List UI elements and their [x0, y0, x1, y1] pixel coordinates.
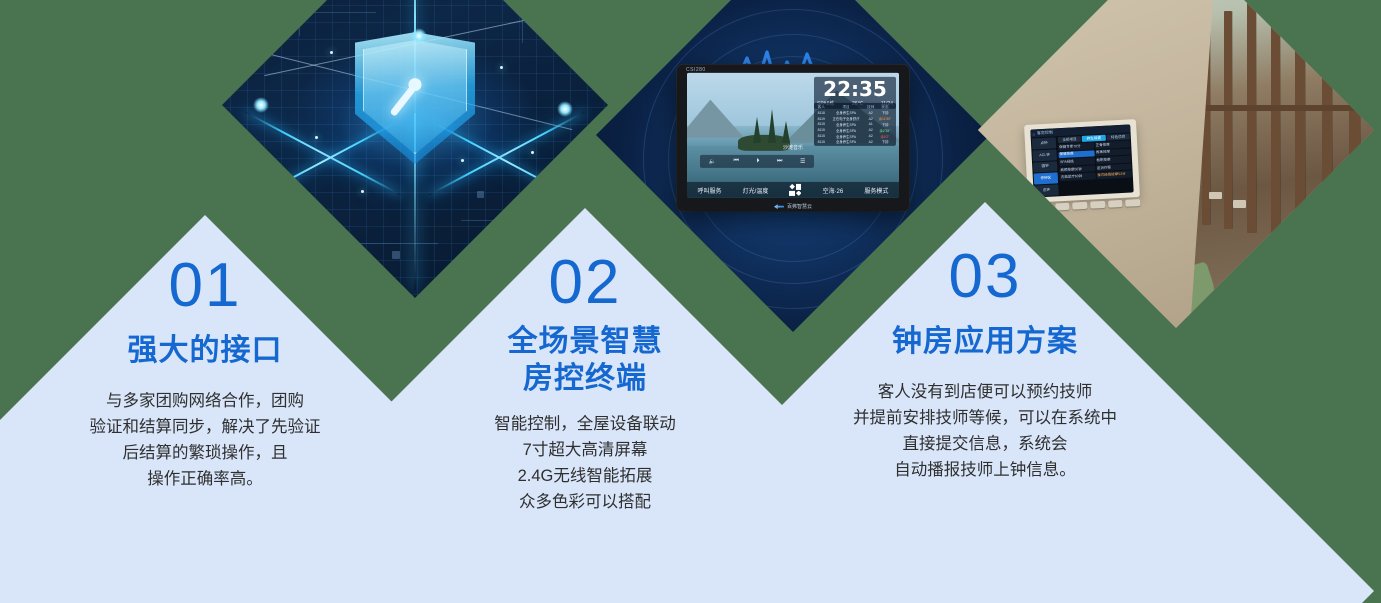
table-cell: 下钟 — [876, 139, 894, 145]
table-cell: 正在电子全身舒疗 — [827, 116, 866, 122]
tablet-screen[interactable]: 22:35 SPA6栋 26℃ 11/24 客人项目技师状态 8118全身养生S… — [687, 73, 899, 198]
card-number-02: 02 — [549, 252, 622, 314]
media-control-bar[interactable]: 🔈 ⏮ ⏵ ⏭ ☰ — [700, 155, 814, 168]
card-number-01: 01 — [169, 255, 242, 317]
card-title-01: 强大的接口 — [128, 333, 283, 370]
next-icon[interactable]: ⏭ — [777, 158, 782, 165]
list-icon[interactable]: ☰ — [800, 158, 805, 165]
clock-time: 22:35 — [817, 79, 893, 99]
panel-item-list[interactable]: 保健专家70分正骨按摩保健按摩推拿按摩SPA经络板刷按摩肩颈按摩50钟足浴疗程古… — [1058, 141, 1132, 182]
btn-service-mode[interactable]: 服务模式 — [864, 185, 888, 194]
tablet-bottom-bar[interactable]: 呼叫服务 灯光/温度 空海·26 服务模式 — [687, 182, 899, 198]
panel-screen[interactable]: ⌂ 客房控制 点钟ACL钟圆钟停钟区选钟 全部项目养生保健特色项目 保健专家70… — [1030, 125, 1133, 198]
panel-side-item[interactable]: 点钟 — [1031, 137, 1056, 149]
service-table: 客人项目技师状态 8118全身养生SPAA2下钟8119正在电子全身舒疗A2余1… — [814, 103, 896, 146]
table-cell: 8115 — [816, 139, 827, 145]
table-row[interactable]: 8115全身养生SPAA2下钟 — [816, 139, 894, 145]
btn-air-26[interactable]: 空海·26 — [823, 185, 844, 194]
btn-light-temp[interactable]: 灯光/温度 — [743, 185, 769, 194]
play-icon[interactable]: ⏵ — [756, 158, 759, 165]
table-cell: 全身养生SPA — [827, 139, 866, 145]
btn-call-service[interactable]: 呼叫服务 — [698, 185, 722, 194]
tablet-footer-brand: 百弗智慧云 — [677, 203, 909, 210]
card-description-02: 智能控制，全屋设备联动 7寸超大高清屏幕 2.4G无线智能拓展 众多色彩可以搭配 — [494, 411, 676, 515]
card-title-03: 钟房应用方案 — [892, 324, 1078, 361]
panel-side-menu[interactable]: 点钟ACL钟圆钟停钟区选钟 — [1030, 136, 1059, 197]
panel-home-icon: ⌂ — [1032, 131, 1035, 136]
table-cell: A2 — [866, 139, 876, 145]
prev-icon[interactable]: ⏮ — [734, 158, 739, 165]
panel-side-item[interactable]: 圆钟 — [1033, 161, 1058, 173]
panel-side-item[interactable]: 停钟区 — [1033, 173, 1058, 185]
wall-control-panel[interactable]: ⌂ 客房控制 点钟ACL钟圆钟停钟区选钟 全部项目养生保健特色项目 保健专家70… — [1024, 119, 1140, 203]
room-control-tablet[interactable]: CSI280 22:35 S — [677, 65, 909, 211]
card-description-01: 与多家团购网络合作，团购 验证和结算同步，解决了先验证 后结算的繁琐操作，且 操… — [90, 388, 321, 492]
card-description-03: 客人没有到店便可以预约技师 并提前安排技师等候，可以在系统中 直接提交信息，系统… — [853, 379, 1117, 483]
infographic-root: CSI280 22:35 S — [0, 0, 1381, 603]
panel-side-item[interactable]: 选钟 — [1034, 185, 1059, 197]
apps-grid-icon[interactable] — [789, 184, 801, 196]
panel-list-item[interactable]: 泰式经络按摩52分 — [1096, 171, 1132, 179]
panel-side-item[interactable]: ACL钟 — [1032, 149, 1057, 161]
panel-list-item[interactable]: 古典足疗60钟 — [1059, 173, 1095, 181]
media-label: 沙滩音乐 — [783, 143, 803, 150]
card-title-02: 全场景智慧 房控终端 — [508, 324, 663, 397]
card-number-03: 03 — [949, 246, 1022, 308]
brand-logo-icon — [774, 203, 784, 209]
volume-icon[interactable]: 🔈 — [708, 158, 715, 165]
